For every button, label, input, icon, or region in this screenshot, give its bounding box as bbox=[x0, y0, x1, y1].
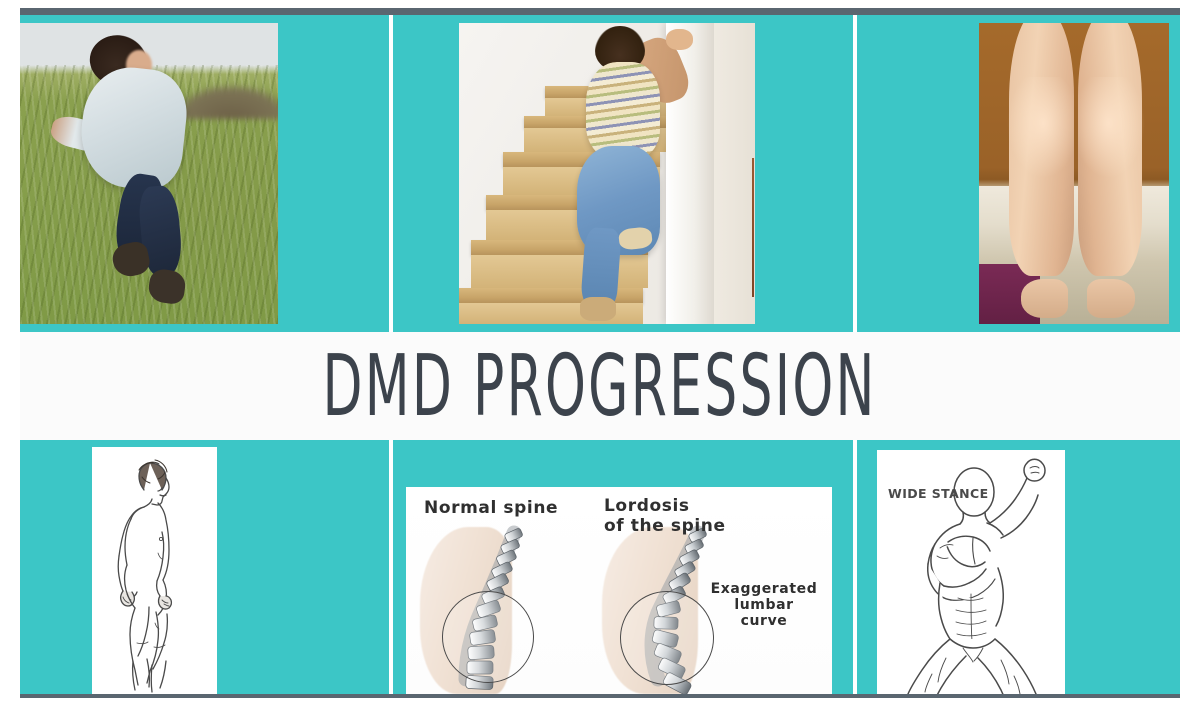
photo-calf-pseudohypertrophy bbox=[979, 23, 1169, 324]
label-lordosis-of-the-spine: Lordosis of the spine bbox=[604, 497, 726, 536]
label-exaggerated-line3: curve bbox=[741, 613, 788, 629]
diagram-row: Normal spine Lordosis of the spine Exagg… bbox=[20, 440, 1180, 694]
door bbox=[714, 23, 755, 324]
lordotic-posture-drawing bbox=[92, 447, 217, 694]
photo-row bbox=[20, 15, 1180, 332]
label-wide-stance: WIDE STANCE bbox=[888, 486, 989, 501]
photo-running-boy bbox=[20, 23, 278, 324]
child-shoe-lower bbox=[580, 297, 616, 321]
photo-panel-stair-climbing bbox=[389, 15, 853, 332]
label-exaggerated-line2: lumbar bbox=[734, 597, 793, 613]
dmd-progression-slide: DMD PROGRESSION bbox=[0, 0, 1200, 716]
photo-panel-running-boy bbox=[20, 15, 389, 332]
label-exaggerated-lumbar-curve: Exaggerated lumbar curve bbox=[704, 581, 824, 630]
child-hand bbox=[666, 29, 693, 50]
lordotic-lumbar-highlight-circle bbox=[620, 591, 714, 685]
child-striped-shirt bbox=[586, 62, 660, 158]
label-lordosis-line2: of the spine bbox=[604, 516, 726, 536]
diagram-panel-wide-stance: WIDE STANCE bbox=[853, 440, 1180, 694]
label-exaggerated-line1: Exaggerated bbox=[711, 581, 818, 597]
calf-right-highlight bbox=[1078, 77, 1146, 179]
child-leg bbox=[581, 227, 622, 308]
photo-stair-climbing-child bbox=[459, 23, 755, 324]
page-title: DMD PROGRESSION bbox=[323, 343, 877, 428]
diagram-panel-lordotic-posture bbox=[20, 440, 389, 694]
foot-left bbox=[1021, 279, 1069, 318]
label-normal-spine: Normal spine bbox=[424, 499, 558, 519]
calf-left-highlight bbox=[1006, 77, 1074, 179]
frame-top-bar bbox=[20, 8, 1180, 15]
title-band: DMD PROGRESSION bbox=[20, 332, 1180, 440]
foot-right bbox=[1087, 279, 1135, 318]
diagram-panel-spine-comparison: Normal spine Lordosis of the spine Exagg… bbox=[389, 440, 853, 694]
diagram-spine-comparison: Normal spine Lordosis of the spine Exagg… bbox=[406, 487, 832, 694]
door-trim bbox=[752, 158, 754, 296]
diagram-lordotic-posture-figure bbox=[92, 447, 217, 694]
label-lordosis-line1: Lordosis bbox=[604, 496, 690, 516]
normal-lumbar-highlight-circle bbox=[442, 591, 534, 683]
diagram-wide-stance-figure: WIDE STANCE bbox=[877, 450, 1065, 694]
photo-panel-calf-hypertrophy bbox=[853, 15, 1180, 332]
